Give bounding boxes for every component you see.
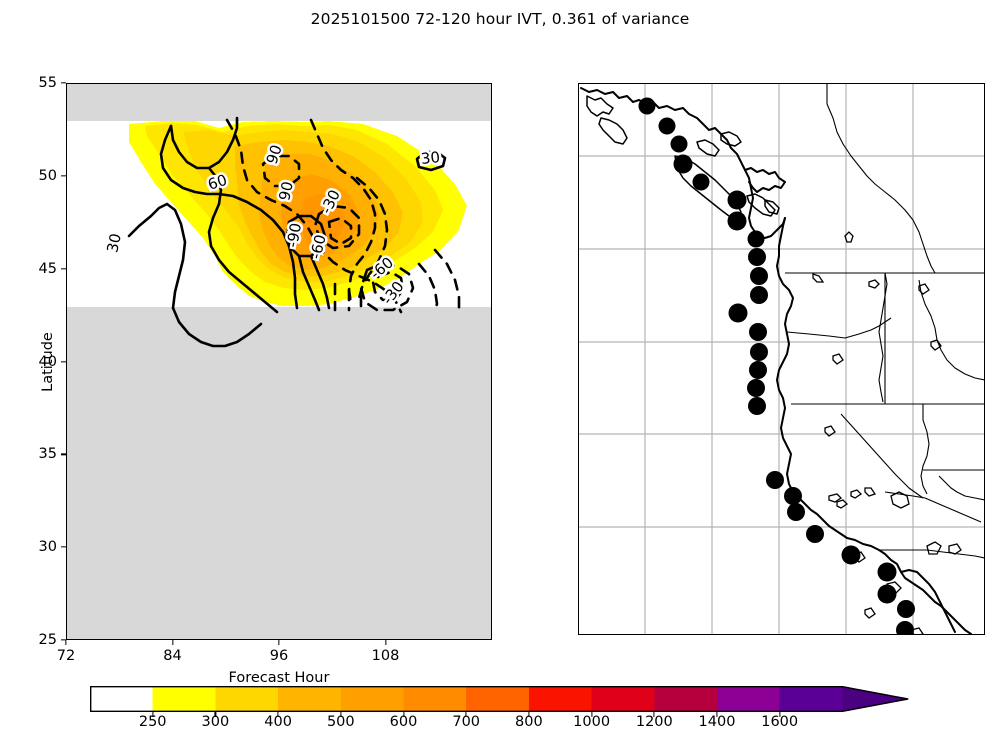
station-marker (787, 503, 805, 521)
station-marker (748, 231, 765, 248)
station-marker (749, 323, 767, 341)
svg-text:30: 30 (103, 232, 125, 254)
hovmoller-plot-area[interactable]: 30 30 60 60 90 90 90 90 (66, 83, 492, 640)
station-marker (878, 563, 897, 582)
colorbar-tick-300: 300 (202, 714, 230, 730)
hovmoller-xlabel: Forecast Hour (229, 670, 330, 686)
station-marker (806, 525, 824, 543)
hovmoller-panel: Latitude 25 30 35 40 45 50 55 72 84 96 1… (66, 83, 492, 640)
colorbar-tick-700: 700 (452, 714, 480, 730)
station-marker (766, 471, 784, 489)
colorbar-cell (278, 686, 341, 712)
xtick-mark (385, 640, 386, 645)
coastline-map (579, 84, 985, 635)
station-marker (693, 174, 710, 191)
station-marker (750, 286, 768, 304)
colorbar[interactable]: 250 300 400 500 600 700 800 1000 1200 14… (90, 686, 910, 712)
xtick-mark (172, 640, 173, 645)
ytick-label-25: 25 (39, 632, 57, 648)
colorbar-cell (90, 686, 153, 712)
station-marker (750, 267, 768, 285)
xtick-label-96: 96 (270, 648, 288, 664)
xtick-mark (65, 640, 66, 645)
figure-canvas: 2025101500 72-120 hour IVT, 0.361 of var… (0, 0, 1000, 749)
xtick-label-84: 84 (163, 648, 181, 664)
ytick-label-45: 45 (39, 261, 57, 277)
station-marker (728, 191, 747, 210)
colorbar-swatches (90, 686, 910, 712)
map-panel (578, 83, 985, 635)
ytick-label-30: 30 (39, 539, 57, 555)
xtick-label-72: 72 (57, 648, 75, 664)
station-marker (749, 361, 767, 379)
svg-text:30: 30 (420, 148, 441, 168)
station-marker (897, 600, 915, 618)
ytick-label-50: 50 (39, 168, 57, 184)
colorbar-cells (90, 686, 910, 712)
colorbar-cell (153, 686, 216, 712)
colorbar-tick-1600: 1600 (761, 714, 798, 730)
colorbar-cell (592, 686, 655, 712)
station-marker (784, 487, 802, 505)
colorbar-cell (717, 686, 780, 712)
colorbar-cell (404, 686, 467, 712)
colorbar-tick-250: 250 (139, 714, 167, 730)
ytick-label-55: 55 (39, 75, 57, 91)
station-marker (671, 136, 688, 153)
xtick-mark (278, 640, 279, 645)
map-gridlines (579, 84, 985, 635)
colorbar-cell (529, 686, 592, 712)
colorbar-tick-1200: 1200 (636, 714, 673, 730)
colorbar-extend-arrow (842, 686, 910, 712)
colorbar-cell (780, 686, 843, 712)
map-plot-area[interactable] (578, 83, 985, 635)
station-marker (878, 585, 897, 604)
political-borders (785, 84, 985, 558)
station-marker (750, 343, 768, 361)
colorbar-tick-1000: 1000 (573, 714, 610, 730)
colorbar-cell (466, 686, 529, 712)
ytick-label-35: 35 (39, 446, 57, 462)
ytick-label-40: 40 (39, 354, 57, 370)
hovmoller-contour-fill: 30 30 60 60 90 90 90 90 (67, 84, 492, 640)
colorbar-tick-800: 800 (515, 714, 543, 730)
xtick-label-108: 108 (372, 648, 400, 664)
station-marker (896, 621, 914, 635)
colorbar-cell (215, 686, 278, 712)
station-marker (659, 118, 676, 135)
colorbar-tick-600: 600 (390, 714, 418, 730)
station-marker (728, 212, 747, 231)
station-marker (674, 155, 693, 174)
colorbar-cell (341, 686, 404, 712)
station-marker (747, 379, 765, 397)
station-marker (729, 304, 748, 323)
station-marker (639, 98, 656, 115)
page-title: 2025101500 72-120 hour IVT, 0.361 of var… (0, 10, 1000, 28)
station-marker (842, 546, 861, 565)
colorbar-tick-400: 400 (264, 714, 292, 730)
colorbar-tick-1400: 1400 (699, 714, 736, 730)
station-marker (748, 397, 766, 415)
colorbar-tick-500: 500 (327, 714, 355, 730)
colorbar-cell (654, 686, 717, 712)
station-marker (748, 248, 766, 266)
